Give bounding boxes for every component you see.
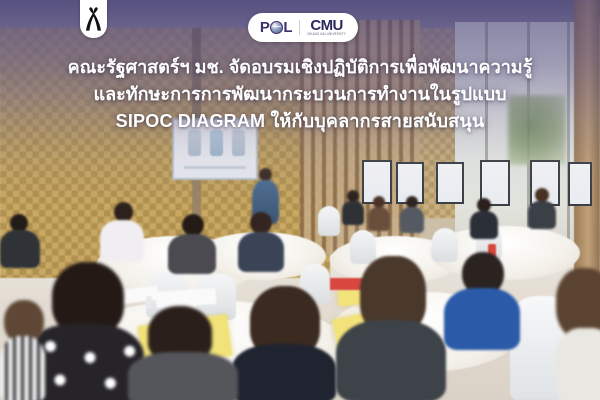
cmu-full-name: CHIANG MAI UNIVERSITY xyxy=(307,34,346,37)
cmu-initials: CMU xyxy=(310,18,342,33)
cmu-logo: CMU CHIANG MAI UNIVERSITY xyxy=(307,18,346,37)
pol-letter-p: P xyxy=(260,20,270,35)
headline-line-1: คณะรัฐศาสตร์ฯ มช. จัดอบรมเชิงปฏิบัติการเ… xyxy=(0,54,600,81)
headline: คณะรัฐศาสตร์ฯ มช. จัดอบรมเชิงปฏิบัติการเ… xyxy=(0,54,600,135)
pol-cmu-logo: P L CMU CHIANG MAI UNIVERSITY xyxy=(248,13,358,42)
globe-icon xyxy=(270,21,283,34)
pol-logo: P L xyxy=(260,20,292,35)
mourning-ribbon-banner xyxy=(80,0,107,38)
black-mourning-ribbon-icon xyxy=(85,6,102,32)
headline-line-2: และทักษะการการพัฒนากระบวนการทำงานในรูปแบ… xyxy=(0,81,600,108)
pol-letter-l: L xyxy=(283,20,292,35)
event-banner: P L CMU CHIANG MAI UNIVERSITY คณะรัฐศาสต… xyxy=(0,0,600,400)
logo-divider xyxy=(299,20,300,35)
headline-line-3: SIPOC DIAGRAM ให้กับบุคลากรสายสนับสนุน xyxy=(0,108,600,135)
